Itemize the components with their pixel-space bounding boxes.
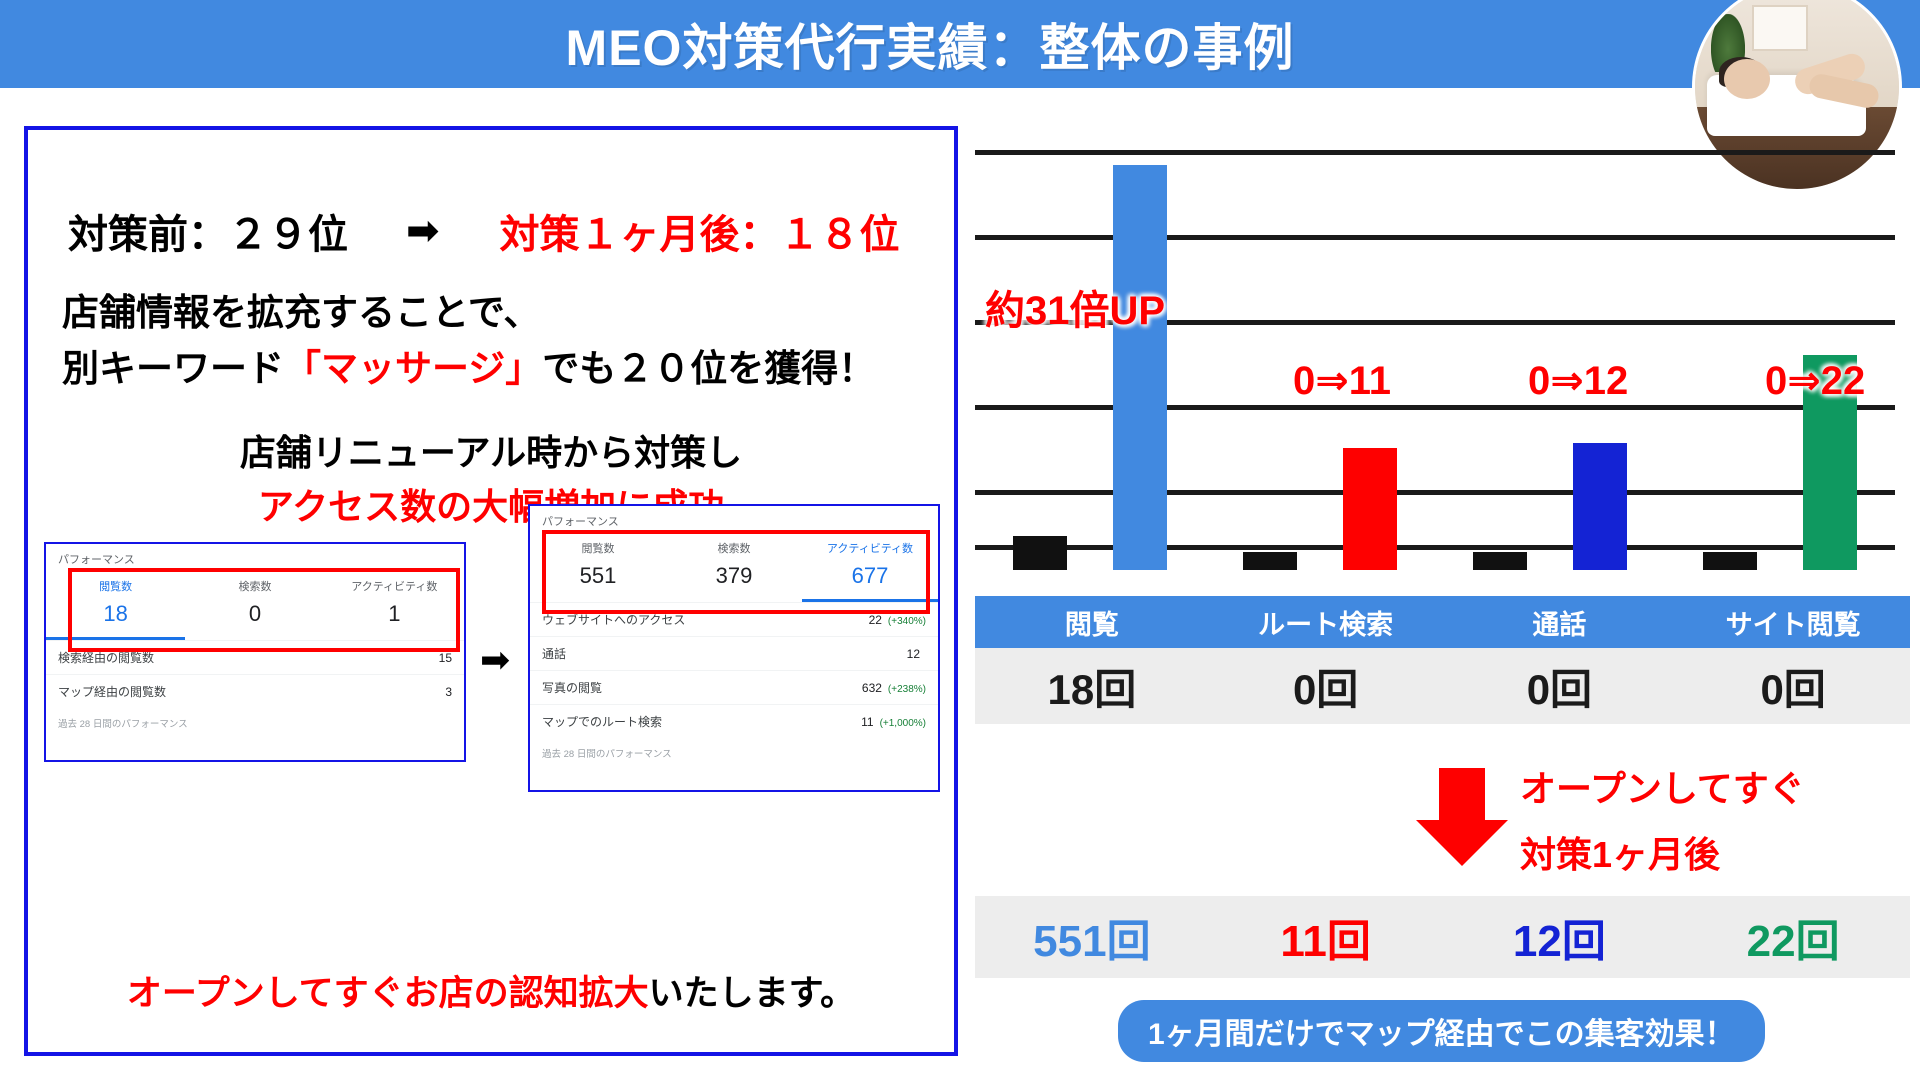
metric-label: アクティビティ数 [325, 578, 464, 594]
description-line-5-suffix: いたします。 [649, 974, 856, 1013]
metric-value: 677 [802, 563, 938, 589]
gbp-after-metric-searches[interactable]: 検索数 379 [666, 540, 802, 589]
description-line-2-suffix: でも２０位を獲得！ [542, 348, 875, 389]
metric-label: 閲覧数 [530, 540, 666, 556]
down-arrow-head [1416, 820, 1508, 866]
gbp-after-row-calls: 通話 12 [530, 636, 938, 670]
row-value-wrap: 11(+1,000%) [861, 715, 926, 729]
down-arrow-stem [1439, 768, 1485, 826]
metrics-table-before-row: 18回 0回 0回 0回 [975, 648, 1910, 724]
gbp-card-after-metrics-wrap: 閲覧数 551 検索数 379 アクティビティ数 677 [530, 532, 938, 599]
row-label: 写真の閲覧 [542, 679, 602, 696]
metric-label: 検索数 [666, 540, 802, 556]
rank-before-label: 対策前：２９位 [68, 202, 348, 260]
annotation-calls: 0⇒12 [1528, 358, 1628, 404]
gbp-card-before: パフォーマンス 閲覧数 18 検索数 0 アクティビティ数 1 [44, 542, 466, 762]
column-header-directions: ルート検索 [1209, 596, 1443, 648]
metrics-table-header: 閲覧 ルート検索 通話 サイト閲覧 [975, 596, 1910, 648]
row-percent: (+340%) [888, 616, 926, 627]
column-header-calls: 通話 [1443, 596, 1677, 648]
cell-before-calls: 0回 [1443, 648, 1677, 724]
row-value: 11 [861, 715, 873, 729]
description-line-2-prefix: 別キーワード [62, 348, 284, 389]
metric-value: 1 [325, 601, 464, 627]
annotation-directions: 0⇒11 [1293, 358, 1391, 404]
metric-value: 18 [46, 601, 185, 627]
gbp-after-footer: 過去 28 日間のパフォーマンス [530, 738, 938, 766]
gbp-card-before-metrics-wrap: 閲覧数 18 検索数 0 アクティビティ数 1 [46, 570, 464, 637]
cell-before-directions: 0回 [1209, 648, 1443, 724]
row-label: 検索経由の閲覧数 [58, 649, 154, 666]
cell-before-website: 0回 [1676, 648, 1910, 724]
bar-before-directions [1243, 552, 1297, 570]
bar-before-views [1013, 536, 1067, 570]
page-title: MEO対策代行実績：整体の事例 [566, 8, 1295, 80]
gbp-after-metric-activity[interactable]: アクティビティ数 677 [802, 540, 938, 589]
bar-group-calls [1435, 140, 1665, 570]
column-header-website: サイト閲覧 [1676, 596, 1910, 648]
metric-value: 0 [185, 601, 324, 627]
metrics-table-before: 閲覧 ルート検索 通話 サイト閲覧 18回 0回 0回 0回 [975, 596, 1910, 724]
row-value: 15 [439, 651, 452, 665]
gbp-before-footer: 過去 28 日間のパフォーマンス [46, 708, 464, 736]
gbp-after-row-photo-views: 写真の閲覧 632(+238%) [530, 670, 938, 704]
description-line-2-keyword: 「マッサージ」 [284, 348, 542, 389]
gbp-card-after-title: パフォーマンス [530, 506, 938, 532]
photo-window [1752, 5, 1808, 51]
description-line-5-highlight: オープンしてすぐお店の認知拡大 [127, 974, 649, 1013]
photo-head [1724, 59, 1770, 99]
rank-after-label: 対策１ヶ月後：１８位 [500, 202, 900, 260]
cell-after-calls: 12回 [1443, 896, 1677, 978]
gbp-before-row-map-views: マップ経由の閲覧数 3 [46, 674, 464, 708]
row-value: 22 [869, 613, 882, 627]
bar-after-directions [1343, 448, 1397, 570]
bar-group-website [1665, 140, 1895, 570]
description-line-2: 別キーワード「マッサージ」でも２０位を獲得！ [62, 338, 875, 392]
metric-value: 379 [666, 563, 802, 589]
row-label: マップ経由の閲覧数 [58, 683, 166, 700]
cell-after-views: 551回 [975, 896, 1209, 978]
gbp-before-metric-activity[interactable]: アクティビティ数 1 [325, 578, 464, 627]
column-header-views: 閲覧 [975, 596, 1209, 648]
row-percent: (+1,000%) [880, 718, 926, 729]
bar-group-views [975, 140, 1205, 570]
page-header: MEO対策代行実績：整体の事例 [0, 0, 1920, 88]
description-line-3: 店舗リニューアル時から対策し [28, 424, 954, 476]
bar-after-views [1113, 165, 1167, 570]
metrics-table-after-row: 551回 11回 12回 22回 [975, 896, 1910, 978]
row-value: 3 [445, 685, 452, 699]
slide-root: MEO対策代行実績：整体の事例 対策前：２９位 ➡ 対策１ヶ月後：１８位 店舗情… [0, 0, 1920, 1080]
rank-comparison-row: 対策前：２９位 ➡ 対策１ヶ月後：１８位 [68, 202, 928, 260]
transition-arrow-icon: ➡ [480, 642, 510, 678]
gbp-before-metrics: 閲覧数 18 検索数 0 アクティビティ数 1 [46, 570, 464, 637]
metric-label: 閲覧数 [46, 578, 185, 594]
mid-caption-2: 対策1ヶ月後 [1520, 826, 1720, 878]
row-percent: (+238%) [888, 684, 926, 695]
row-label: マップでのルート検索 [542, 713, 662, 730]
gbp-before-metric-searches[interactable]: 検索数 0 [185, 578, 324, 627]
gbp-after-metrics: 閲覧数 551 検索数 379 アクティビティ数 677 [530, 532, 938, 599]
bar-before-website [1703, 552, 1757, 570]
description-line-5: オープンしてすぐお店の認知拡大いたします。 [28, 965, 954, 1016]
bar-series-container [975, 140, 1895, 570]
bar-chart: 約31倍UP 0⇒11 0⇒12 0⇒22 [975, 120, 1895, 570]
description-line-1: 店舗情報を拡充することで、 [62, 282, 540, 336]
gbp-after-row-directions: マップでのルート検索 11(+1,000%) [530, 704, 938, 738]
bar-group-directions [1205, 140, 1435, 570]
gbp-before-row-search-views: 検索経由の閲覧数 15 [46, 640, 464, 674]
row-value-wrap: 22(+340%) [869, 613, 926, 627]
summary-pill: 1ヶ月間だけでマップ経由でこの集客効果！ [1118, 1000, 1765, 1062]
annotation-multiplier: 約31倍UP [985, 278, 1165, 336]
mid-caption-1: オープンしてすぐ [1520, 760, 1805, 812]
gbp-after-metric-views[interactable]: 閲覧数 551 [530, 540, 666, 589]
cell-after-website: 22回 [1676, 896, 1910, 978]
right-arrow-icon: ➡ [406, 211, 440, 251]
metric-label: 検索数 [185, 578, 324, 594]
metric-value: 551 [530, 563, 666, 589]
row-value: 632 [862, 681, 882, 695]
metric-label: アクティビティ数 [802, 540, 938, 556]
row-label: ウェブサイトへのアクセス [542, 611, 685, 628]
bar-after-calls [1573, 443, 1627, 570]
gbp-card-after: パフォーマンス 閲覧数 551 検索数 379 アクティビティ数 677 [528, 504, 940, 792]
left-panel: 対策前：２９位 ➡ 対策１ヶ月後：１８位 店舗情報を拡充することで、 別キーワー… [24, 126, 958, 1056]
row-label: 通話 [542, 645, 566, 662]
gbp-card-before-title: パフォーマンス [46, 544, 464, 570]
cell-after-directions: 11回 [1209, 896, 1443, 978]
row-value-wrap: 12 [907, 647, 926, 661]
gbp-after-row-website: ウェブサイトへのアクセス 22(+340%) [530, 602, 938, 636]
cell-before-views: 18回 [975, 648, 1209, 724]
gbp-before-metric-views[interactable]: 閲覧数 18 [46, 578, 185, 627]
bar-before-calls [1473, 552, 1527, 570]
annotation-website: 0⇒22 [1765, 358, 1865, 404]
row-value: 12 [907, 647, 920, 661]
row-value-wrap: 632(+238%) [862, 681, 926, 695]
